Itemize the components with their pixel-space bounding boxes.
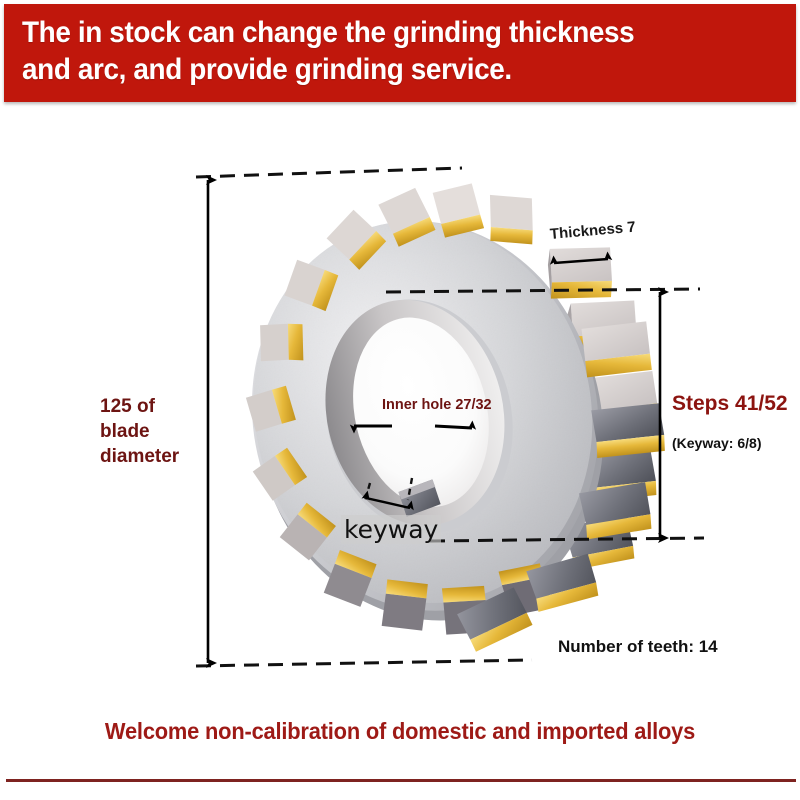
label-teeth-count: Number of teeth: 14 <box>558 637 718 657</box>
footer-divider <box>6 779 796 782</box>
label-steps-keyway: (Keyway: 6/8) <box>672 434 798 452</box>
label-inner-hole: Inner hole 27/32 <box>382 397 492 413</box>
label-keyway: keyway <box>341 515 441 544</box>
label-blade-diameter: 125 of blade diameter <box>100 394 230 469</box>
page-root: The in stock can change the grinding thi… <box>0 0 800 800</box>
label-steps: Steps 41/52 <box>672 392 798 416</box>
banner-headline: The in stock can change the grinding thi… <box>22 14 731 88</box>
footer-tagline: Welcome non-calibration of domestic and … <box>20 718 780 745</box>
header-banner: The in stock can change the grinding thi… <box>4 4 796 102</box>
diagram-stage: 125 of blade diameter Steps 41/52 (Keywa… <box>0 104 800 714</box>
